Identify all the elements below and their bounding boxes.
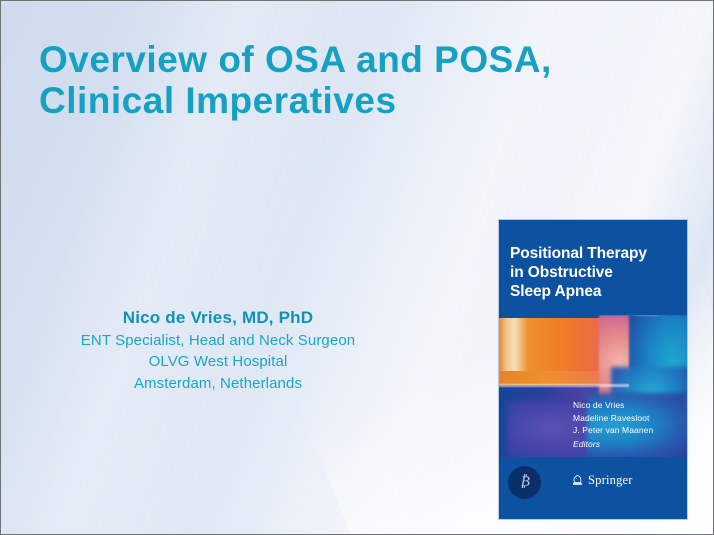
presenter-name: Nico de Vries, MD, PhD <box>23 307 413 330</box>
book-editors: Nico de Vries Madeline Ravesloot J. Pete… <box>573 399 653 450</box>
book-editor-2: Madeline Ravesloot <box>573 412 653 425</box>
book-title: Positional Therapy in Obstructive Sleep … <box>510 245 679 302</box>
artwork-white-edge <box>499 384 629 387</box>
presenter-role: ENT Specialist, Head and Neck Surgeon <box>23 330 413 351</box>
slide-title-line-2: Clinical Imperatives <box>39 80 639 121</box>
book-editors-role: Editors <box>573 438 653 451</box>
presentation-slide: Overview of OSA and POSA, Clinical Imper… <box>0 0 714 535</box>
springer-knight-icon <box>571 474 584 488</box>
presenter-location: Amsterdam, Netherlands <box>23 373 413 394</box>
book-cover-image: Positional Therapy in Obstructive Sleep … <box>499 220 687 519</box>
slide-title-line-1: Overview of OSA and POSA, <box>39 39 639 80</box>
slide-title: Overview of OSA and POSA, Clinical Imper… <box>39 39 639 122</box>
book-title-line-3: Sleep Apnea <box>510 283 679 302</box>
book-editor-3: J. Peter van Maanen <box>573 424 653 437</box>
book-editor-1: Nico de Vries <box>573 399 653 412</box>
presenter-block: Nico de Vries, MD, PhD ENT Specialist, H… <box>23 307 413 394</box>
presenter-affiliation: OLVG West Hospital <box>23 351 413 372</box>
publisher-badge-icon: ₿ <box>508 466 541 499</box>
book-title-line-2: in Obstructive <box>510 264 679 283</box>
book-publisher-bar: ₿ Springer <box>499 463 687 519</box>
book-title-line-1: Positional Therapy <box>510 245 679 264</box>
springer-logo: Springer <box>571 473 633 488</box>
springer-wordmark: Springer <box>588 473 633 488</box>
